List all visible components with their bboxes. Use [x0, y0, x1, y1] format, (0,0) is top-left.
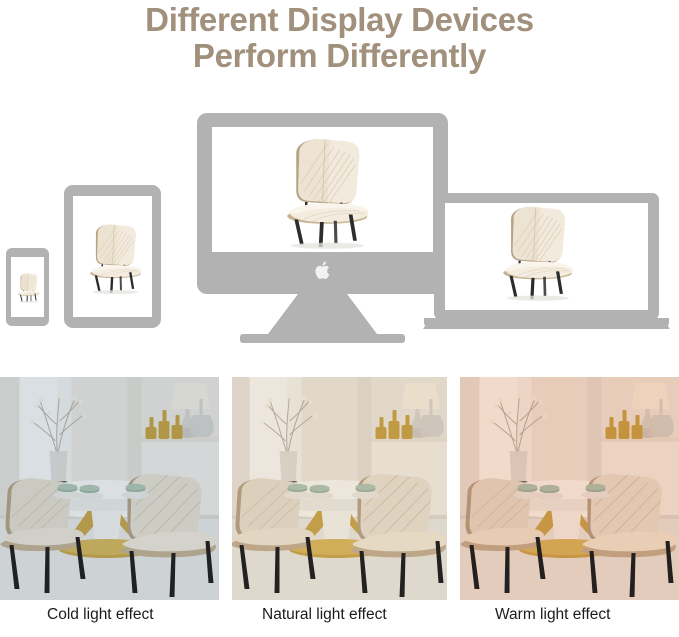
device-tablet [64, 185, 161, 328]
scene-cold-light [0, 377, 219, 600]
monitor-stand-foot [240, 334, 405, 343]
monitor-screen [212, 127, 433, 252]
room-image-warm [460, 377, 679, 600]
device-phone [6, 248, 49, 326]
product-detail-image: Different Display Devices Perform Differ… [0, 0, 679, 637]
scene-label-row: Cold light effect Natural light effect W… [0, 606, 679, 637]
page-title: Different Display Devices Perform Differ… [0, 0, 679, 74]
device-lineup [0, 96, 679, 346]
device-laptop [434, 193, 659, 320]
page-title-line-1: Different Display Devices [0, 2, 679, 38]
lighting-comparison-row [0, 377, 679, 600]
room-image-cold [0, 377, 219, 600]
chair-image-tablet [73, 196, 152, 317]
chair-image-phone [11, 257, 44, 317]
scene-label-natural: Natural light effect [262, 606, 387, 624]
chair-image-laptop [445, 203, 648, 310]
laptop-screen [445, 203, 648, 310]
tablet-screen [73, 196, 152, 317]
monitor-stand-neck [265, 292, 380, 338]
laptop-base [424, 318, 669, 329]
page-title-line-2: Perform Differently [0, 38, 679, 74]
phone-screen [11, 257, 44, 317]
room-image-natural [232, 377, 447, 600]
scene-label-warm: Warm light effect [495, 606, 610, 624]
device-monitor [197, 113, 448, 294]
scene-natural-light [232, 377, 447, 600]
scene-warm-light [460, 377, 679, 600]
apple-logo-icon [314, 260, 332, 281]
scene-label-cold: Cold light effect [47, 606, 154, 624]
chair-image-monitor [212, 127, 433, 252]
